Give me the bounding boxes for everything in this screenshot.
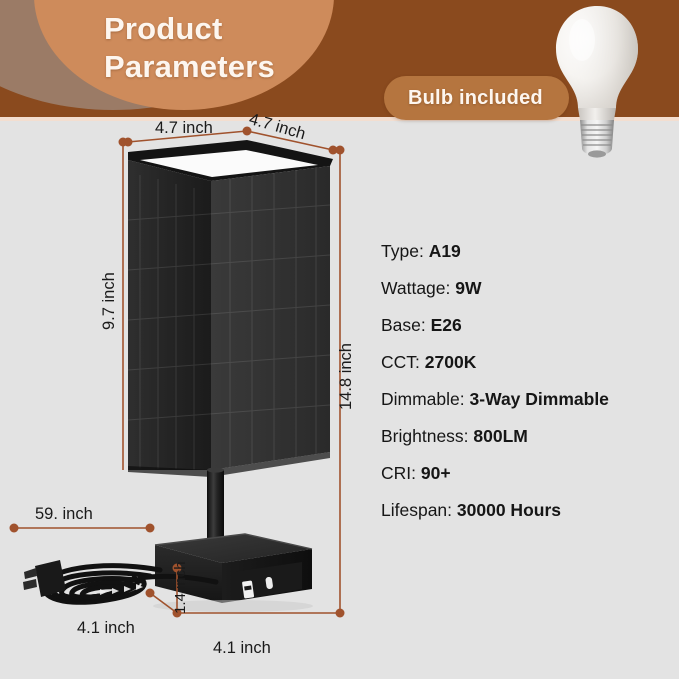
dimension-label-base-width: 4.1 inch — [213, 639, 271, 658]
dimension-label-shade-height: 9.7 inch — [100, 272, 119, 330]
spec-value-dimmable: 3-Way Dimmable — [470, 389, 609, 409]
spec-row-brightness: Brightness: 800LM — [381, 428, 669, 446]
dimension-label-shade-top-left: 4.7 inch — [155, 119, 213, 138]
spec-key-type: Type: — [381, 241, 424, 261]
spec-value-lifespan: 30000 Hours — [457, 500, 561, 520]
spec-value-cct: 2700K — [425, 352, 477, 372]
dimension-label-base-height: 1.4 inch — [172, 561, 189, 614]
spec-key-cri: CRI: — [381, 463, 416, 483]
dimension-label-base-depth: 4.1 inch — [77, 619, 135, 638]
spec-value-base: E26 — [431, 315, 462, 335]
dimension-label-cord-length: 59. inch — [35, 505, 93, 524]
dimension-label-total-height: 14.8 inch — [337, 343, 356, 410]
spec-key-brightness: Brightness: — [381, 426, 469, 446]
specification-list: Type: A19 Wattage: 9W Base: E26 CCT: 270… — [381, 243, 669, 539]
spec-value-wattage: 9W — [455, 278, 481, 298]
spec-key-dimmable: Dimmable: — [381, 389, 465, 409]
spec-key-wattage: Wattage: — [381, 278, 450, 298]
spec-value-cri: 90+ — [421, 463, 451, 483]
spec-row-cct: CCT: 2700K — [381, 354, 669, 372]
spec-row-cri: CRI: 90+ — [381, 465, 669, 483]
spec-key-base: Base: — [381, 315, 426, 335]
spec-key-cct: CCT: — [381, 352, 420, 372]
spec-row-wattage: Wattage: 9W — [381, 280, 669, 298]
product-parameters-infographic: Product Parameters Bulb included — [0, 0, 679, 679]
spec-row-dimmable: Dimmable: 3-Way Dimmable — [381, 391, 669, 409]
spec-value-brightness: 800LM — [473, 426, 527, 446]
spec-key-lifespan: Lifespan: — [381, 500, 452, 520]
spec-value-type: A19 — [429, 241, 461, 261]
spec-row-type: Type: A19 — [381, 243, 669, 261]
spec-row-lifespan: Lifespan: 30000 Hours — [381, 502, 669, 520]
spec-row-base: Base: E26 — [381, 317, 669, 335]
